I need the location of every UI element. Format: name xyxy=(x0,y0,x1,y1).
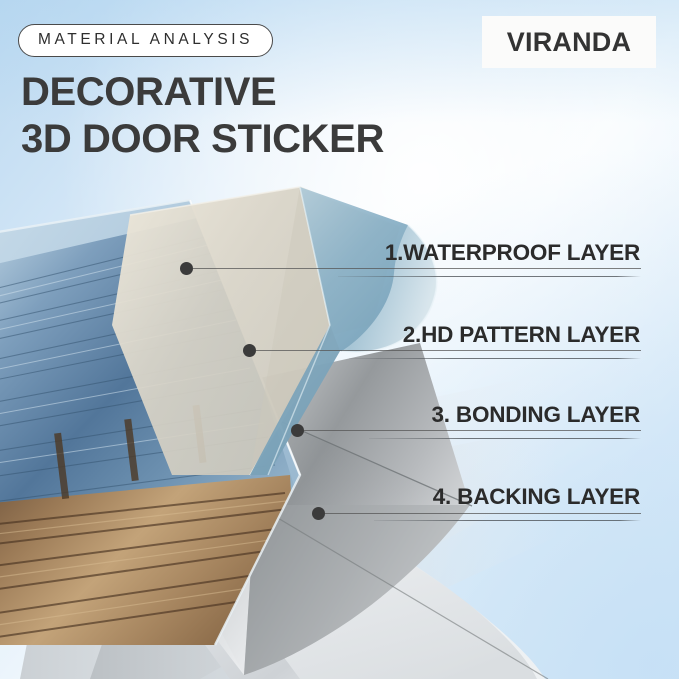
callout-text-1: 1.WATERPROOF LAYER xyxy=(385,240,640,270)
callout-label-2: 2.HD PATTERN LAYER xyxy=(403,322,640,352)
callout-underline-4 xyxy=(374,520,641,521)
callout-underline-2 xyxy=(349,358,641,359)
callout-text-3: 3. BONDING LAYER xyxy=(431,402,640,432)
callout-dot-4 xyxy=(312,507,325,520)
callout-text-2: 2.HD PATTERN LAYER xyxy=(403,322,640,352)
material-analysis-infographic: MATERIAL ANALYSIS DECORATIVE 3D DOOR STI… xyxy=(0,0,679,679)
callout-dot-1 xyxy=(180,262,193,275)
callout-label-4: 4. BACKING LAYER xyxy=(433,484,640,514)
callout-dot-3 xyxy=(291,424,304,437)
callout-label-3: 3. BONDING LAYER xyxy=(431,402,640,432)
callout-dot-2 xyxy=(243,344,256,357)
callout-label-1: 1.WATERPROOF LAYER xyxy=(385,240,640,270)
callout-list: 1.WATERPROOF LAYER 2.HD PATTERN LAYER 3.… xyxy=(0,0,679,679)
callout-text-4: 4. BACKING LAYER xyxy=(433,484,640,514)
callout-underline-3 xyxy=(369,438,641,439)
callout-underline-1 xyxy=(338,276,641,277)
